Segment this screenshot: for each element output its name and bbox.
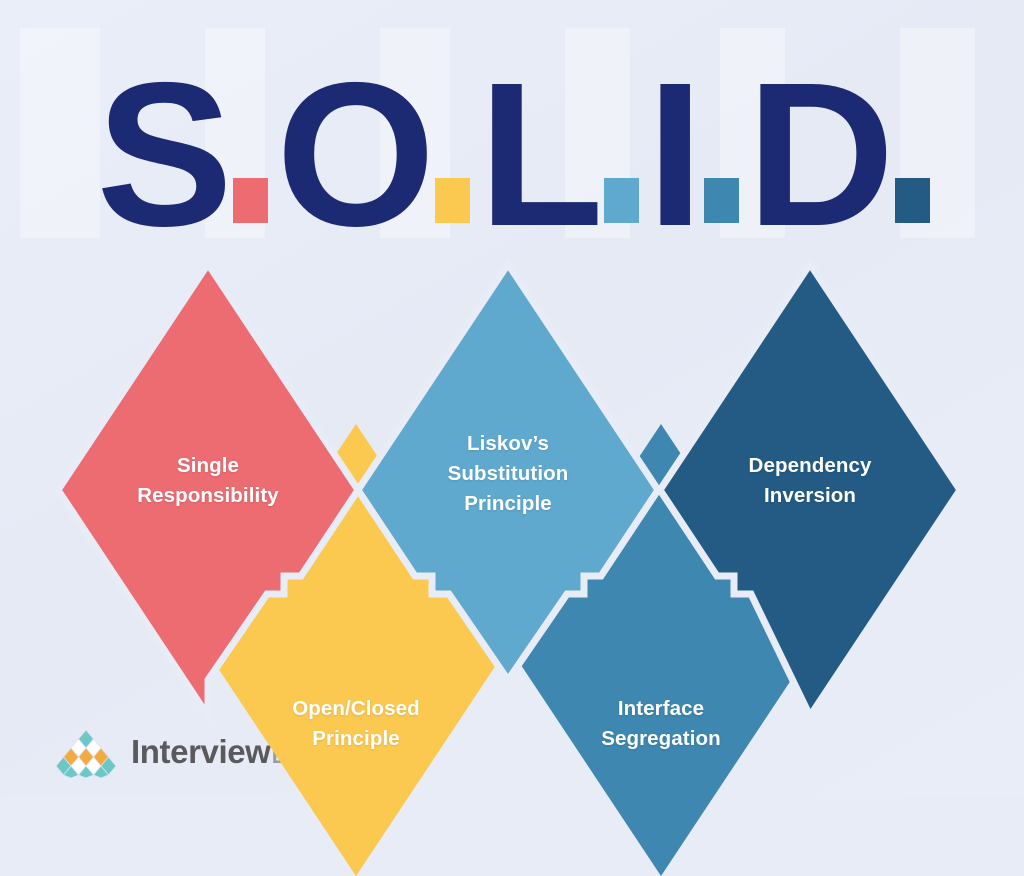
title-dot-darkblue — [895, 178, 930, 223]
title-letter-o: O — [276, 69, 431, 241]
title-letter-s: S — [96, 69, 229, 241]
title-dot-tealblue — [704, 178, 739, 223]
title-dot-red — [233, 178, 268, 223]
title-letter-l: L — [478, 69, 599, 241]
title-dot-yellow — [435, 178, 470, 223]
title-letter-d: D — [747, 69, 891, 241]
diamond-dependency-inversion[interactable]: Dependency Inversion — [660, 264, 960, 716]
page-title: S O L I D — [0, 26, 1024, 241]
solid-principles-diagram: Open/Closed Principle Interface Segregat… — [0, 258, 1024, 718]
title-letter-i: I — [647, 69, 700, 241]
diamond-liskovs-substitution-principle[interactable]: Liskov’s Substitution Principle — [358, 264, 658, 716]
interviewbit-mark-icon — [52, 728, 120, 778]
diamond-single-responsibility[interactable]: Single Responsibility — [58, 264, 358, 716]
title-dot-lightblue — [604, 178, 639, 223]
